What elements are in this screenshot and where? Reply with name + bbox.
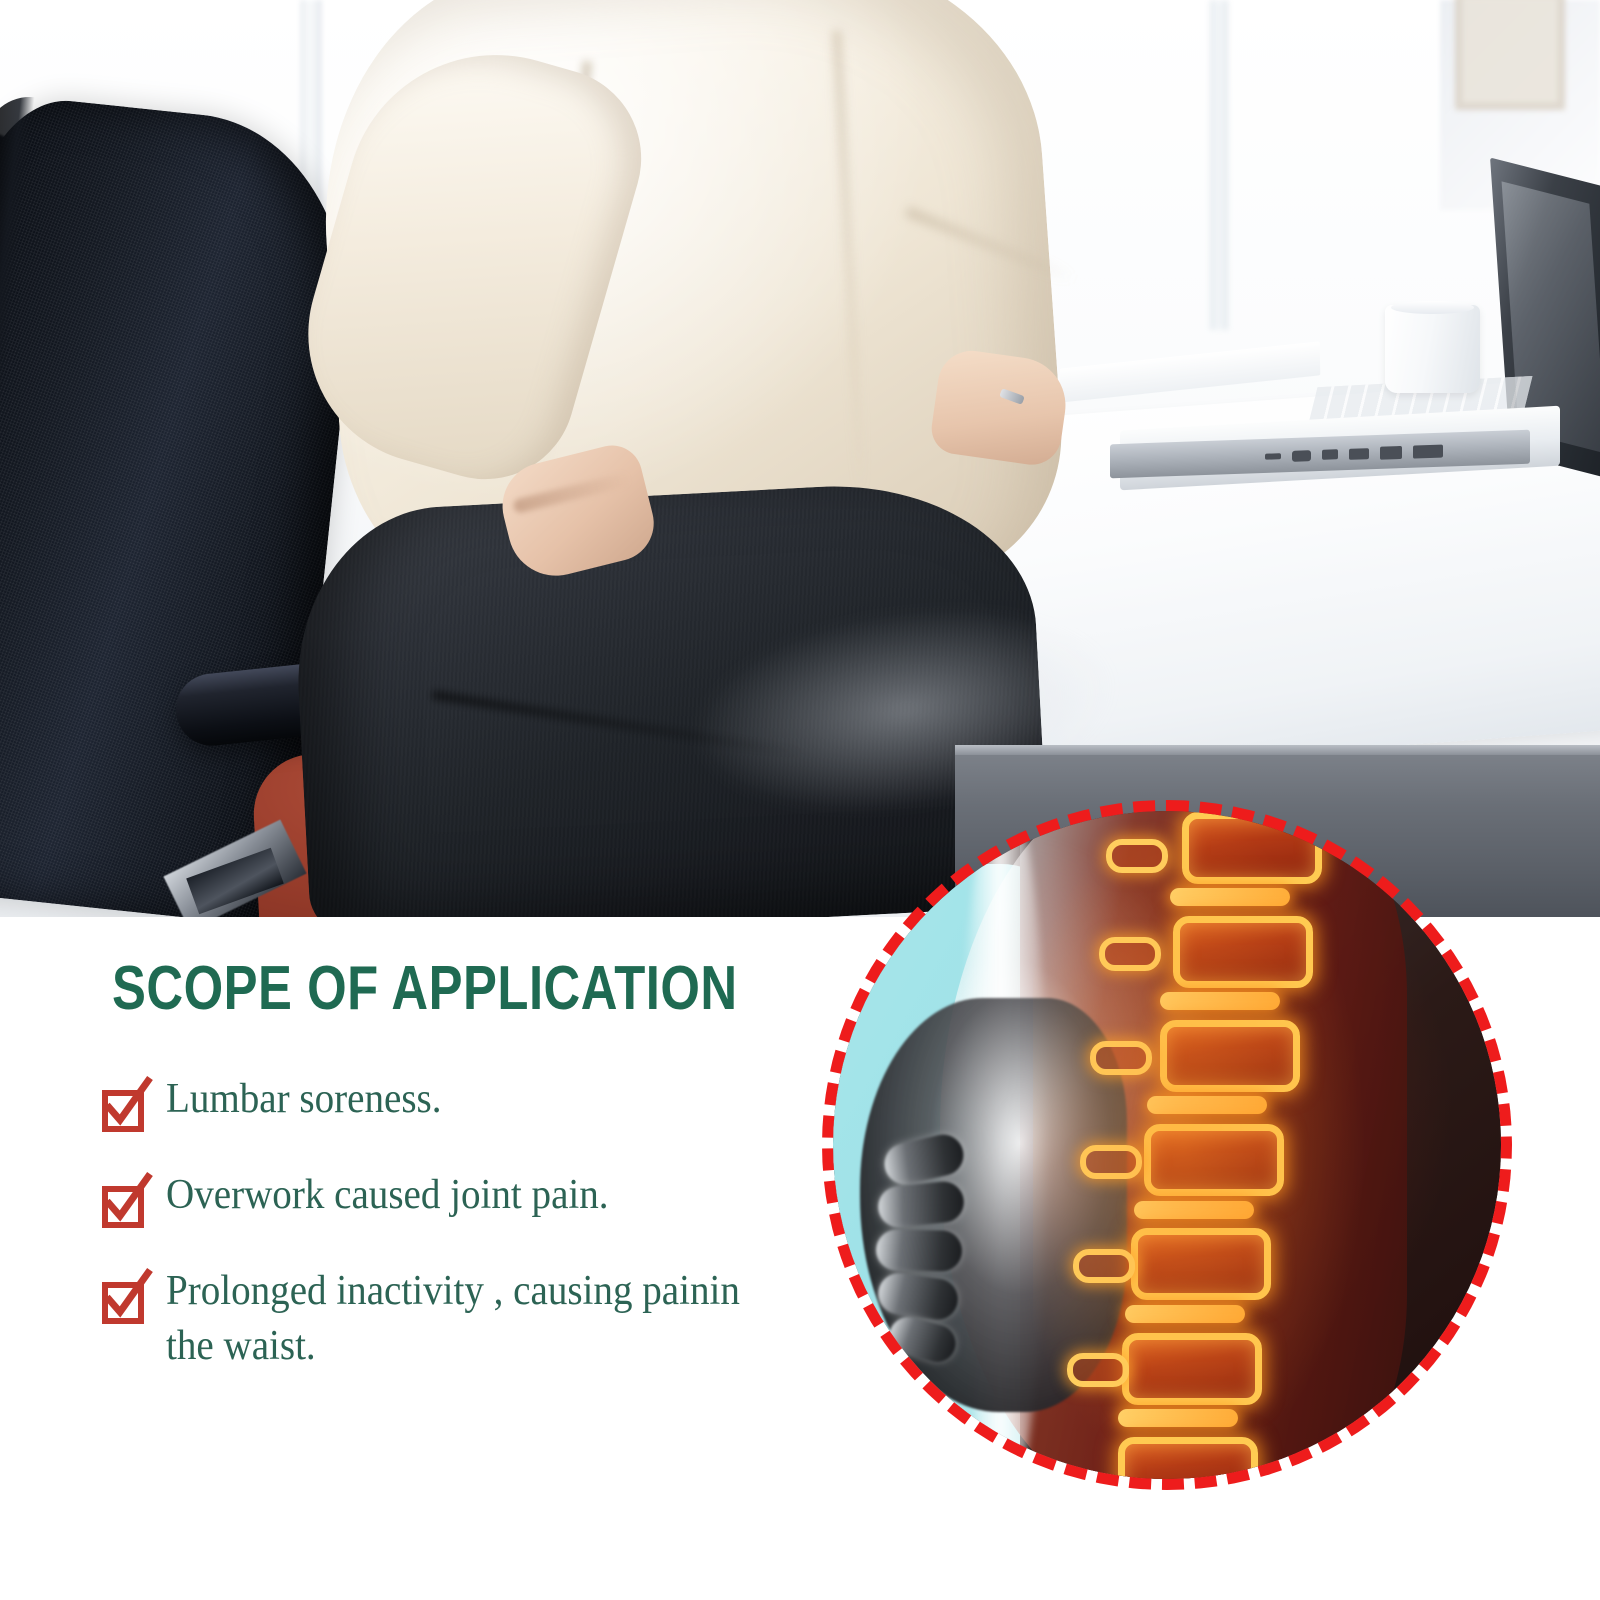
laptop-port-lock (1265, 453, 1281, 460)
window-mullion-right (1210, 0, 1228, 330)
list-item: Lumbar soreness. (100, 1072, 840, 1132)
laptop-port-firewire (1322, 449, 1338, 460)
application-list: Lumbar soreness. Overwork caused joint p… (100, 1072, 840, 1375)
laptop-port-dvi (1413, 444, 1443, 458)
laptop-port-usb (1292, 450, 1311, 462)
list-item: Overwork caused joint pain. (100, 1168, 840, 1228)
spine-xray-inset (822, 800, 1512, 1490)
laptop-port-ethernet (1380, 445, 1402, 459)
laptop-port-usb-2 (1349, 448, 1369, 460)
list-item-label: Overwork caused joint pain. (166, 1168, 793, 1223)
wall-picture-frame (1455, 0, 1565, 110)
checkmark-icon (98, 1268, 154, 1324)
coffee-mug (1385, 305, 1480, 393)
checkmark-icon (98, 1076, 154, 1132)
dashed-circle-border (822, 800, 1512, 1490)
checkmark-icon (98, 1172, 154, 1228)
list-item: Prolonged inactivity , causing painin th… (100, 1264, 840, 1375)
product-feature-poster: SCOPE OF APPLICATION Lumbar soreness. (0, 0, 1600, 1600)
checked-checkbox-icon (100, 1084, 148, 1132)
checked-checkbox-icon (100, 1276, 148, 1324)
list-item-label: Prolonged inactivity , causing painin th… (166, 1264, 793, 1375)
desk-front-panel-highlight (955, 745, 1600, 755)
list-item-label: Lumbar soreness. (166, 1072, 793, 1127)
checked-checkbox-icon (100, 1180, 148, 1228)
office-back-pain-photo (0, 0, 1600, 917)
page-title: SCOPE OF APPLICATION (112, 953, 738, 1024)
